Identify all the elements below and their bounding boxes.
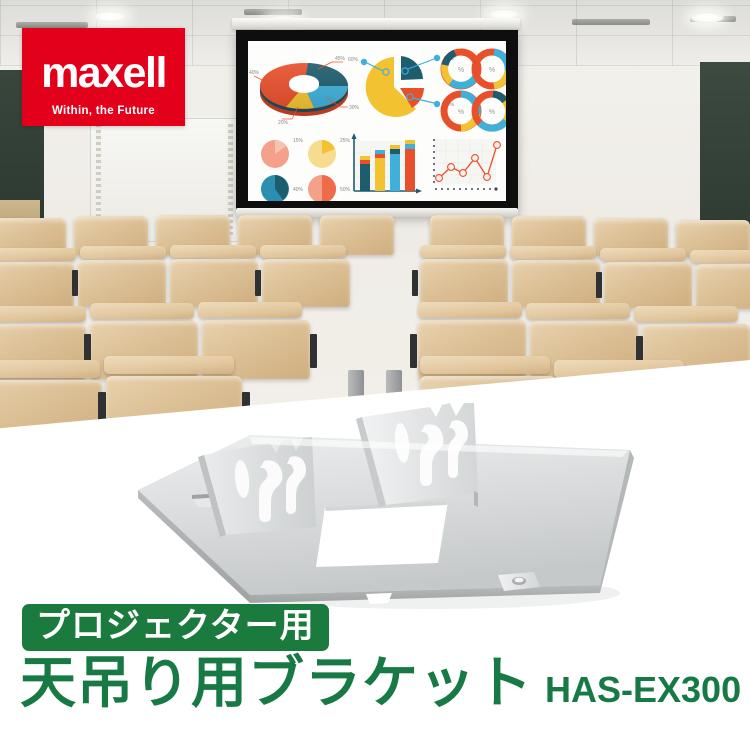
svg-text:%: % — [458, 109, 464, 116]
svg-text:40%: 40% — [293, 187, 304, 193]
svg-text:%: % — [489, 67, 495, 74]
logo-wordmark: maxell — [22, 52, 185, 95]
svg-text:%: % — [489, 109, 495, 116]
ceiling-light — [690, 12, 724, 23]
screen-roller-case — [232, 18, 520, 29]
product-title: 天吊り用ブラケット — [20, 655, 533, 711]
screen-surface: 45% 40% 20% 30% — [248, 41, 506, 201]
svg-text:15%: 15% — [293, 138, 304, 144]
svg-text:%: % — [458, 67, 464, 74]
svg-text:25%: 25% — [340, 138, 351, 144]
svg-text:20%: 20% — [278, 120, 289, 126]
projection-screen: 45% 40% 20% 30% — [236, 30, 518, 215]
product-banner: 45% 40% 20% 30% — [0, 0, 750, 750]
maxell-logo: maxell Within, the Future — [22, 28, 185, 126]
svg-text:60%: 60% — [348, 57, 359, 63]
svg-text:45%: 45% — [335, 56, 346, 62]
product-title-row: 天吊り用ブラケット HAS-EX300 — [20, 655, 734, 711]
ceiling-vent — [244, 9, 302, 15]
chart-exploded-pie: 25% 15% 60% — [348, 55, 455, 117]
product-model-number: HAS-EX300 — [545, 672, 741, 711]
ceiling-mount-bracket-product — [130, 395, 650, 625]
category-badge: プロジェクター用 — [22, 604, 329, 651]
projected-infographic-charts: 45% 40% 20% 30% — [248, 41, 506, 201]
chart-mini-pies: 15% 25% 40% — [261, 138, 351, 201]
chart-stacked-bar — [352, 133, 423, 194]
svg-text:30%: 30% — [349, 105, 360, 111]
svg-text:50%: 50% — [340, 187, 351, 193]
ceiling-light — [93, 11, 127, 22]
logo-tagline: Within, the Future — [22, 105, 185, 117]
ceiling-vent — [572, 19, 650, 25]
chart-donut-3d: 45% 40% 20% 30% — [249, 56, 360, 126]
chart-donut-grid: % % % — [444, 52, 506, 128]
chart-line-trend — [433, 139, 500, 191]
svg-text:40%: 40% — [249, 70, 260, 76]
